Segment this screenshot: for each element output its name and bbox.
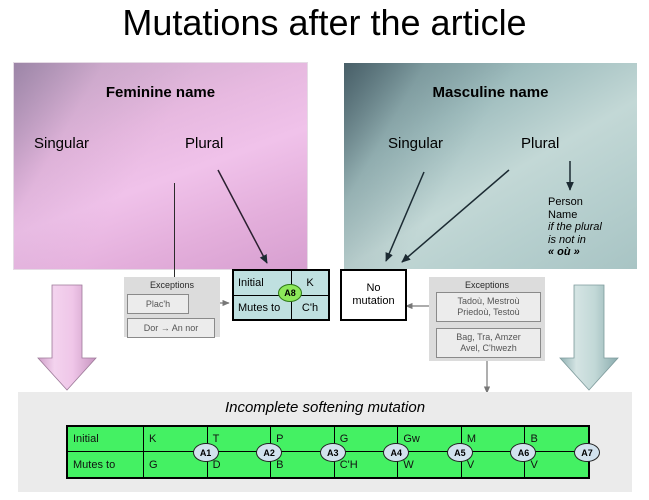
exception-r2-line-2: Avel, C'hwezh: [460, 343, 517, 354]
masculine-plural-label: Plural: [521, 135, 559, 152]
feminine-singular-label: Singular: [34, 135, 89, 152]
no-mutation-box: No mutation: [340, 269, 407, 321]
exception-item-bag-group[interactable]: Bag, Tra, Amzer Avel, C'hwezh: [436, 328, 541, 358]
feminine-plural-label: Plural: [185, 135, 223, 152]
feminine-name-panel: Feminine name: [14, 63, 307, 269]
softening-mutation-table: Initial Mutes to K G A1 T D A2 P B A3 G …: [66, 425, 590, 479]
masculine-singular-label: Singular: [388, 135, 443, 152]
block-arrow-masculine-down: [560, 285, 618, 390]
softening-label-mutes-to: Mutes to: [68, 452, 143, 477]
person-note-line-3: if the plural: [548, 221, 633, 234]
badge-a3[interactable]: A3: [320, 443, 346, 462]
exceptions-left-title: Exceptions: [124, 280, 220, 290]
person-note-line-2: Name: [548, 209, 633, 222]
page-title: Mutations after the article: [0, 2, 649, 44]
exceptions-right-title: Exceptions: [429, 280, 545, 290]
badge-a8[interactable]: A8: [278, 284, 302, 302]
no-mutation-line-1: No: [366, 282, 380, 294]
badge-a7[interactable]: A7: [574, 443, 600, 462]
badge-a2[interactable]: A2: [256, 443, 282, 462]
block-arrow-feminine-down: [38, 285, 96, 390]
masculine-panel-title: Masculine name: [344, 84, 637, 101]
person-note-line-1: Person: [548, 196, 633, 209]
exception-item-tadou-group[interactable]: Tadoù, Mestroù Priedoù, Testoù: [436, 292, 541, 322]
feminine-panel-title: Feminine name: [14, 84, 307, 101]
softening-column-1: K G A1: [144, 427, 208, 477]
exception-item-plach[interactable]: Plac'h: [127, 294, 189, 314]
softening-label-initial: Initial: [68, 427, 143, 452]
diagram-canvas: Mutations after the article Feminine nam…: [0, 0, 649, 500]
person-note-line-5: « où »: [548, 246, 633, 259]
bottom-panel-title: Incomplete softening mutation: [18, 399, 632, 416]
exception-r2-line-1: Bag, Tra, Amzer: [456, 332, 521, 343]
badge-a1[interactable]: A1: [193, 443, 219, 462]
badge-a5[interactable]: A5: [447, 443, 473, 462]
person-name-note: Person Name if the plural is not in « où…: [548, 196, 633, 259]
exception-item-dor-an-nor[interactable]: Dor → An nor: [127, 318, 215, 338]
softening-table-label-column: Initial Mutes to: [68, 427, 144, 477]
person-note-line-4: is not in: [548, 234, 633, 247]
no-mutation-line-2: mutation: [352, 295, 394, 307]
exception-r1-line-1: Tadoù, Mestroù: [457, 296, 519, 307]
exception-r1-line-2: Priedoù, Testoù: [457, 307, 519, 318]
